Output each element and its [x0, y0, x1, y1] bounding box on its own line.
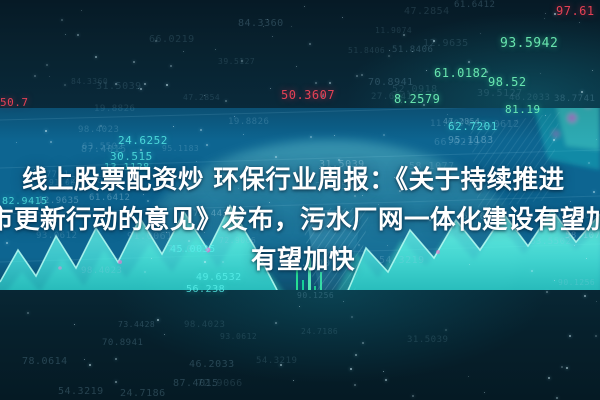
ticker-value: 93.5942 [500, 36, 558, 51]
ticker-value: 81.19 [505, 103, 541, 116]
ticker-value: 50.7 [0, 96, 29, 109]
banner-image: 54.321991.006147.285493.061231.503998.40… [0, 0, 600, 400]
headline-line-2: 市更新行动的意见》发布，污水厂网一体化建设有望加 [0, 200, 600, 240]
ticker-value: 61.0182 [434, 66, 488, 80]
ticker-value: 98.52 [488, 75, 527, 89]
ticker-value: 50.3607 [281, 88, 335, 102]
ticker-value: 62.7201 [448, 120, 498, 133]
headline-line-3: 有望加快 [0, 240, 600, 280]
ticker-value: 97.61 [556, 4, 595, 18]
headline-line-1: 线上股票配资炒 环保行业周报：《关于持续推进 [0, 160, 600, 200]
ticker-value: 8.2579 [394, 92, 440, 106]
ticker-value: 56.238 [186, 284, 225, 295]
headline-text: 线上股票配资炒 环保行业周报：《关于持续推进 市更新行动的意见》发布，污水厂网一… [0, 160, 600, 280]
ticker-value: 24.6252 [118, 134, 168, 147]
